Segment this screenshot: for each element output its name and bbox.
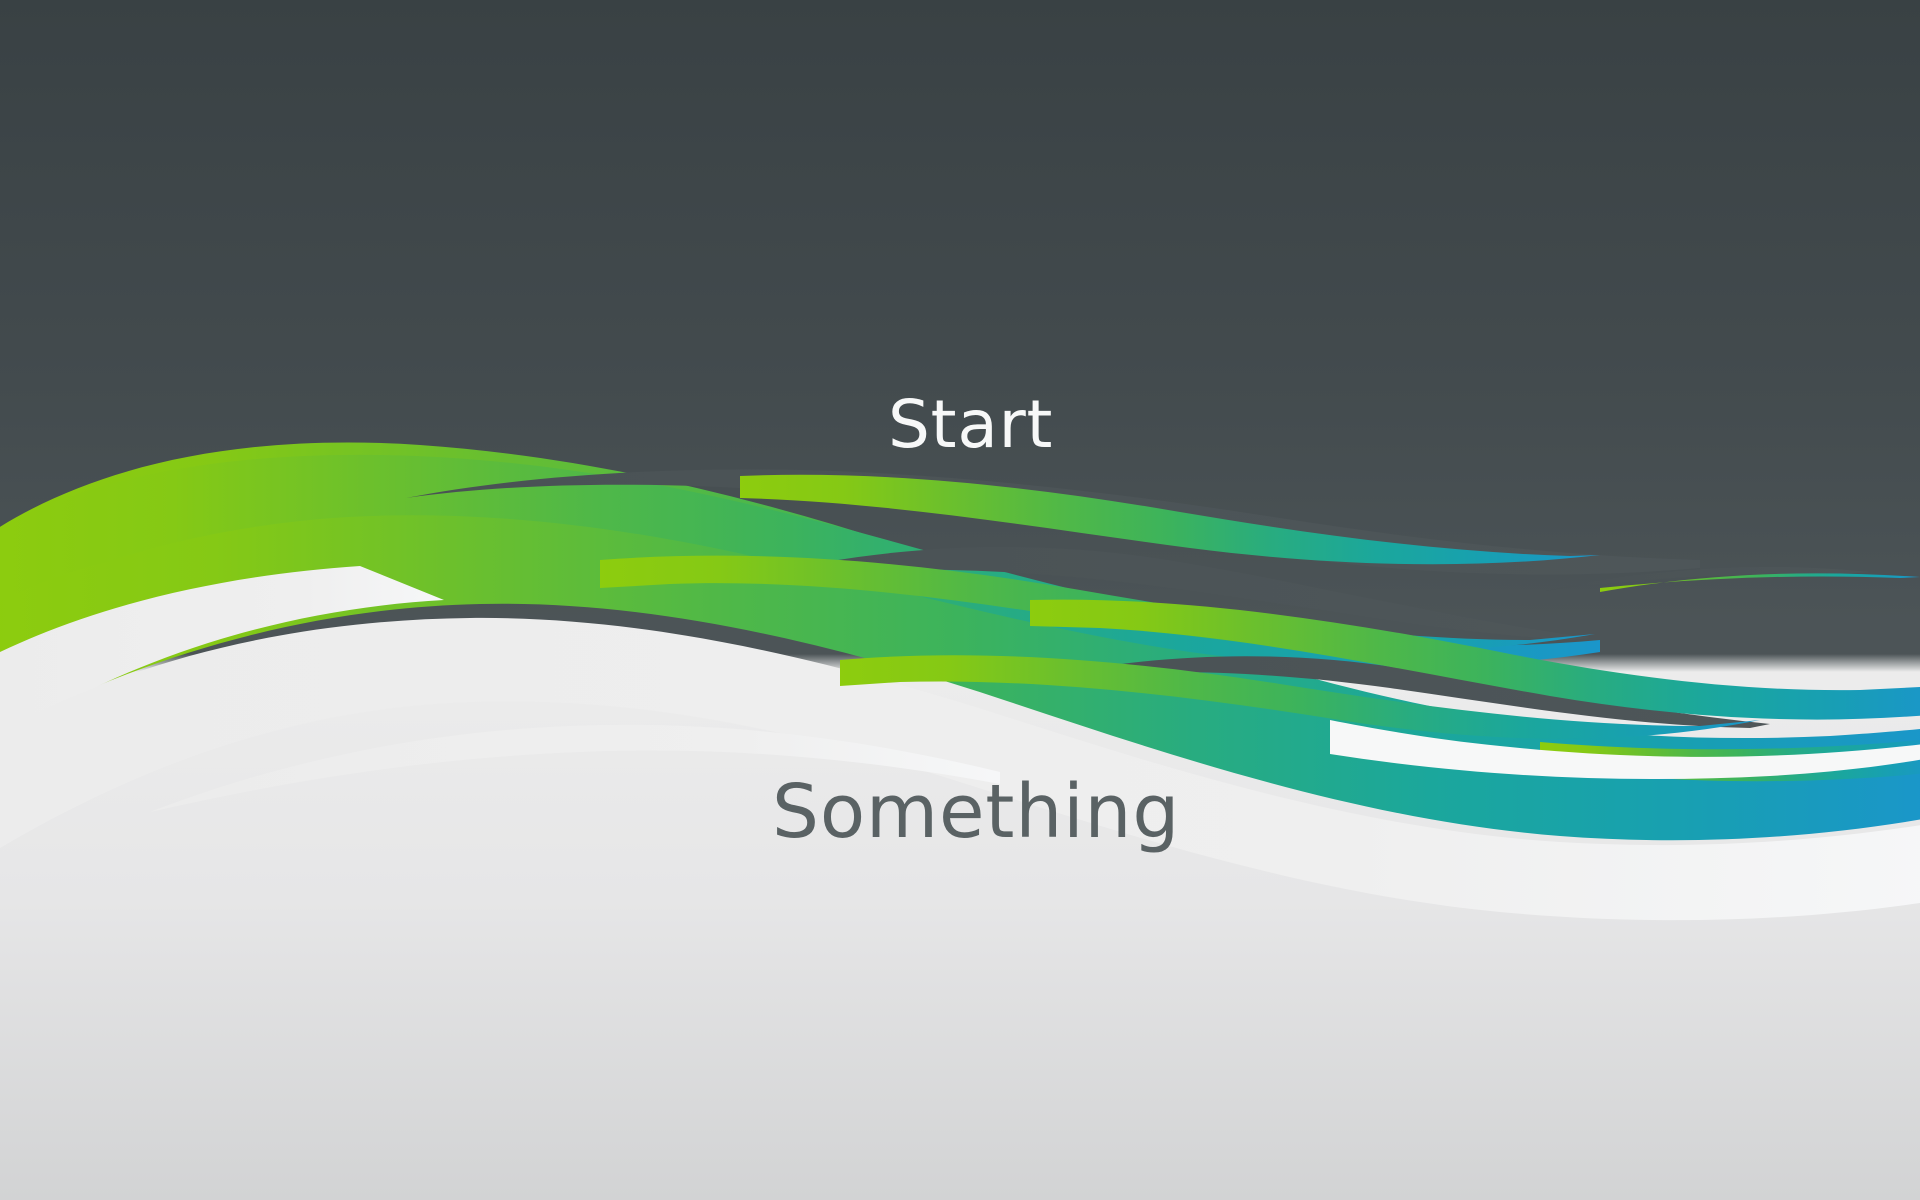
background-artwork (0, 0, 1920, 1200)
page-title-line1: Start (888, 392, 1053, 458)
wallpaper-canvas: Start Something (0, 0, 1920, 1200)
page-title-line2: Something (772, 775, 1180, 849)
